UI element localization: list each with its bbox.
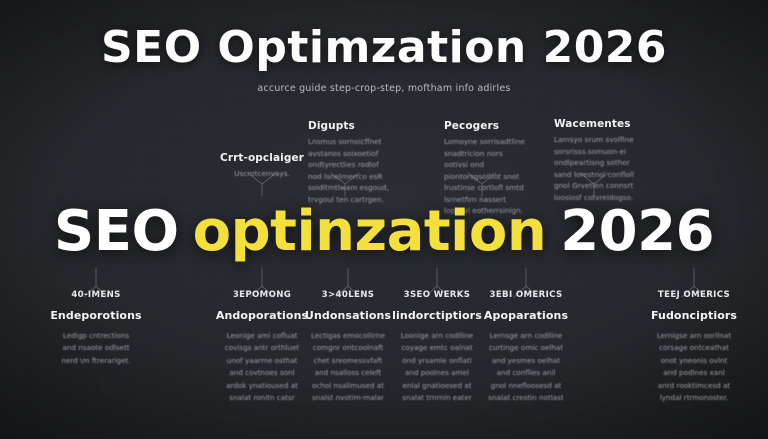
top-node-3-title: Pecogers [444, 120, 528, 132]
top-node-4[interactable]: Wacementes Lamsyo srum svolfine sorsriss… [554, 118, 642, 203]
bottom-card-6-body: Lernigse arn oorllnat corsage ontceathat… [636, 330, 752, 404]
bottom-card-1-title: Endeporotions [38, 309, 154, 322]
top-node-1[interactable]: Crrt-opclaiger Uscrotcenvays. [216, 152, 308, 180]
bottom-card-5[interactable]: 3EBI OMERICS Apoparations Lernsge arn co… [468, 290, 584, 404]
hero-highlight: optinzation [193, 204, 547, 260]
hero-headline: SEO optinzation 2026 [0, 196, 768, 268]
top-node-4-title: Wacementes [554, 118, 642, 130]
top-node-2[interactable]: Digupts Lnsmus sornoicffnet avstanos soi… [308, 120, 392, 205]
bottom-card-5-kicker: 3EBI OMERICS [468, 290, 584, 300]
bottom-card-1-body: Ledigp cntrections and nsaote odlsett ne… [38, 330, 154, 367]
bottom-card-6-kicker: TEEJ OMERICS [636, 290, 752, 300]
bottom-card-5-body: Lernsge arn codlline curtinge omic oelha… [468, 330, 584, 404]
top-node-1-body: Uscrotcenvays. [216, 168, 308, 180]
infographic-poster: SEO Optimzation 2026 accurce guide step-… [0, 0, 768, 439]
top-node-2-body: Lnsmus sornoicffnet avstanos soixoetiof … [308, 136, 392, 205]
top-node-1-title: Crrt-opclaiger [216, 152, 308, 164]
poster-header: SEO Optimzation 2026 accurce guide step-… [0, 26, 768, 94]
page-subtitle: accurce guide step-crop-step, moftham in… [0, 83, 768, 94]
bottom-card-6[interactable]: TEEJ OMERICS Fudonciptiors Lernigse arn … [636, 290, 752, 404]
top-node-2-title: Digupts [308, 120, 392, 132]
page-title: SEO Optimzation 2026 [0, 26, 768, 70]
bottom-card-1-kicker: 40-IMENS [38, 290, 154, 300]
bottom-card-5-title: Apoparations [468, 309, 584, 322]
hero-part-1: SEO [54, 204, 179, 260]
top-node-4-body: Lamsyo srum svolfine sorsrisss.somuon-ei… [554, 134, 642, 203]
bottom-card-6-title: Fudonciptiors [636, 309, 752, 322]
bottom-card-1[interactable]: 40-IMENS Endeporotions Ledigp cntrection… [38, 290, 154, 367]
hero-part-3: 2026 [560, 204, 714, 260]
